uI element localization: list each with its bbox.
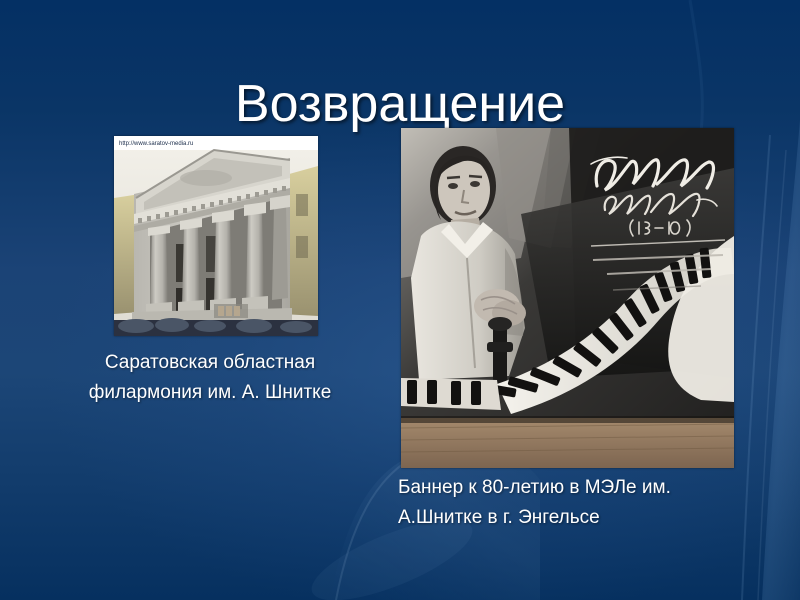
caption-line: А.Шнитке в г. Энгельсе — [380, 503, 790, 533]
caption-line: Баннер к 80-летию в МЭЛе им. — [380, 473, 790, 503]
photo-schnittke-banner — [401, 128, 734, 468]
caption-philharmonic: Саратовская областная филармония им. А. … — [10, 348, 410, 408]
presentation-slide: Возвращение — [0, 0, 800, 600]
photo-philharmonic-building: http://www.saratov-media.ru — [114, 136, 318, 336]
photo-watermark: http://www.saratov-media.ru — [119, 141, 193, 147]
slide-title: Возвращение — [0, 73, 800, 135]
caption-line: Саратовская областная — [10, 348, 410, 378]
caption-line: филармония им. А. Шнитке — [10, 378, 410, 408]
caption-banner: Баннер к 80-летию в МЭЛе им. А.Шнитке в … — [380, 473, 790, 533]
